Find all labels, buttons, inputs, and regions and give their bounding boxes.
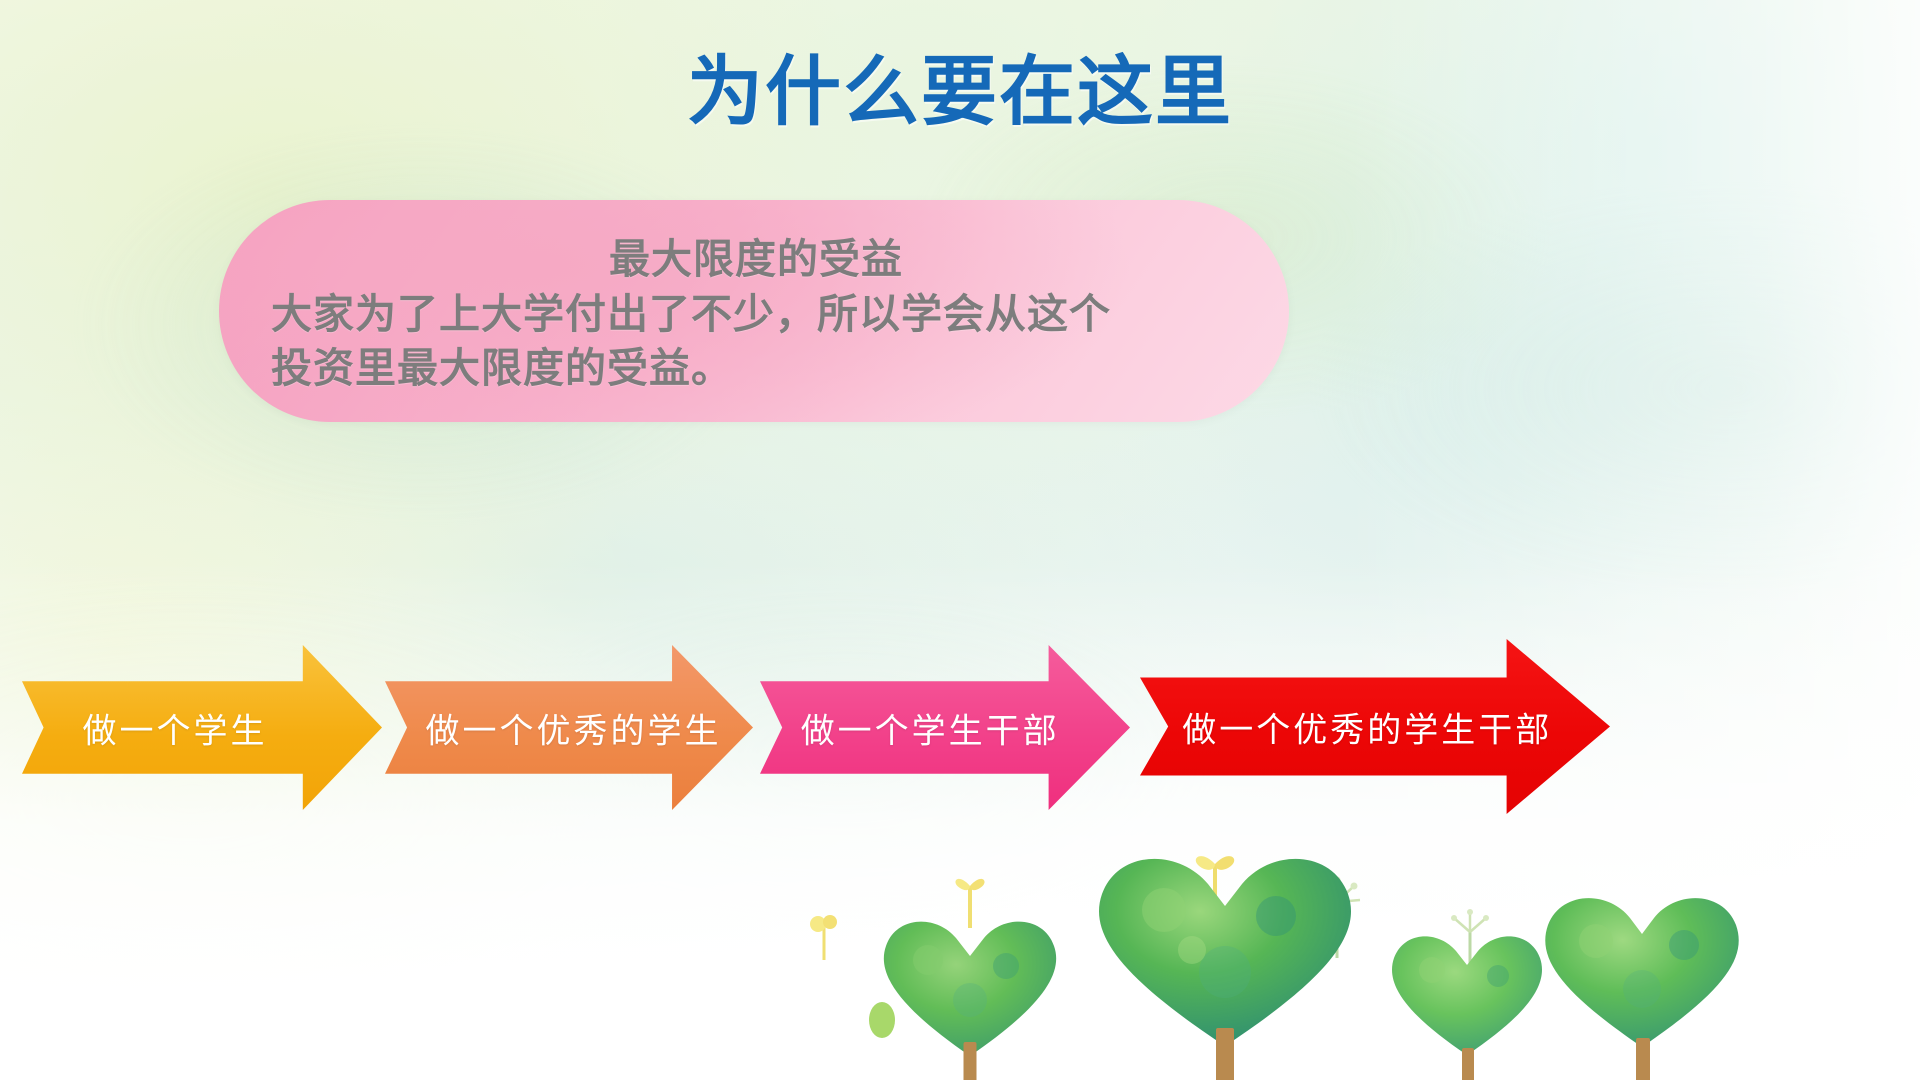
progression-step-3-label: 做一个学生干部 xyxy=(801,703,1034,752)
progression-step-3[interactable]: 做一个学生干部 xyxy=(760,645,1130,810)
callout-text-block: 最大限度的受益 大家为了上大学付出了不少，所以学会从这个 投资里最大限度的受益。 xyxy=(271,232,1241,396)
highlight-callout-box: 最大限度的受益 大家为了上大学付出了不少，所以学会从这个 投资里最大限度的受益。 xyxy=(219,200,1289,422)
slide-canvas: 为什么要在这里 最大限度的受益 大家为了上大学付出了不少，所以学会从这个 投资里… xyxy=(0,0,1920,1080)
decorative-tree-cluster xyxy=(880,790,1920,1080)
yellow-sprig-icon xyxy=(1180,834,1250,920)
background-wash-upper xyxy=(0,0,1920,1080)
background-fade-bottom xyxy=(0,0,1920,1080)
dandelion-sprig-icon xyxy=(1440,904,1500,984)
heart-canopy-icon xyxy=(1380,922,1555,1062)
tree-trunk xyxy=(1462,1048,1474,1080)
progression-step-4-label: 做一个优秀的学生干部 xyxy=(1182,702,1511,751)
tree-trunk xyxy=(1636,1038,1650,1080)
dandelion-sprig-icon xyxy=(1300,868,1374,960)
tree-trunk xyxy=(1216,1028,1234,1080)
heart-tree-small-mid xyxy=(1380,922,1555,1080)
heart-canopy-icon xyxy=(1080,840,1370,1055)
callout-line-3: 投资里最大限度的受益。 xyxy=(271,341,1241,396)
heart-canopy-icon xyxy=(1530,883,1755,1055)
background-fade-right xyxy=(0,0,1920,1080)
heart-canopy-icon xyxy=(870,904,1070,1064)
heart-tree-large xyxy=(1080,840,1370,1080)
yellow-sprig-icon xyxy=(940,860,1000,930)
green-leaf-icon xyxy=(860,992,904,1044)
heart-tree-medium-right xyxy=(1530,883,1755,1080)
heart-tree-small-left xyxy=(870,904,1070,1080)
progression-step-2[interactable]: 做一个优秀的学生 xyxy=(385,645,753,810)
progression-step-1[interactable]: 做一个学生 xyxy=(22,645,382,810)
progression-step-2-label: 做一个优秀的学生 xyxy=(425,703,657,752)
yellow-sprig-icon xyxy=(800,906,848,962)
progression-step-1-label: 做一个学生 xyxy=(62,703,289,752)
background-base xyxy=(0,0,1920,1080)
progression-step-4[interactable]: 做一个优秀的学生干部 xyxy=(1140,639,1610,814)
callout-line-1: 最大限度的受益 xyxy=(271,232,1241,287)
page-title: 为什么要在这里 xyxy=(0,52,1920,132)
progression-arrow-row: 做一个学生 做一个优秀的学生 做一个学生干部 做一个优秀的学生干部 xyxy=(0,645,1920,810)
background-wash-lower xyxy=(0,0,1920,1080)
callout-line-2: 大家为了上大学付出了不少，所以学会从这个 xyxy=(271,287,1241,342)
tree-trunk xyxy=(964,1042,977,1080)
